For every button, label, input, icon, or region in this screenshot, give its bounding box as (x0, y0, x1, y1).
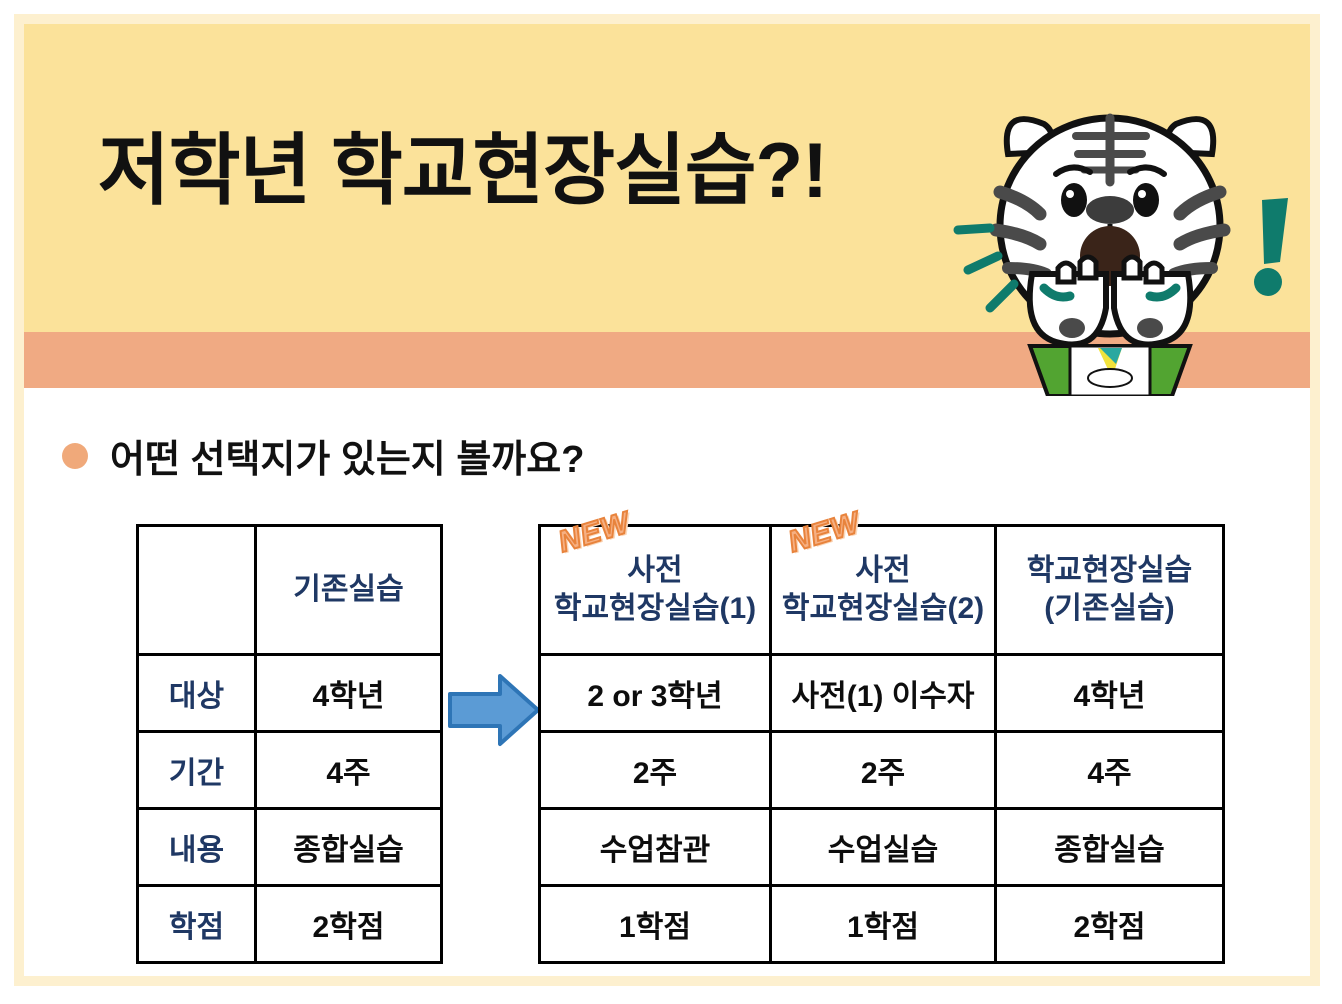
motion-lines-icon (952, 212, 1042, 327)
bullet-dot-icon (62, 443, 88, 469)
header-line2: (기존실습) (997, 590, 1222, 628)
table-row: 2 or 3학년 사전(1) 이수자 4학년 (540, 655, 1224, 732)
header-line1: 학교현장실습 (997, 552, 1222, 590)
table-row: 기간 4주 (138, 732, 442, 809)
header-line2: 학교현장실습(2) (772, 590, 994, 628)
cell-duration-pre2: 2주 (771, 732, 996, 809)
table-row: 대상 4학년 (138, 655, 442, 732)
header-line2: 학교현장실습(1) (541, 590, 769, 628)
exclamation-mark-icon (1248, 196, 1308, 296)
cell-target-existing: 4학년 (996, 655, 1224, 732)
cell-credits-pre1: 1학점 (540, 886, 771, 963)
cell-content-pre1: 수업참관 (540, 809, 771, 886)
cell-duration-existing: 4주 (256, 732, 442, 809)
table-row: 내용 종합실습 (138, 809, 442, 886)
table-header-row: 기존실습 (138, 526, 442, 655)
table-row: 학점 2학점 (138, 886, 442, 963)
header-school-practicum-existing: 학교현장실습 (기존실습) (996, 526, 1224, 655)
slide-root: 저학년 학교현장실습?! (0, 0, 1342, 1004)
row-label-content: 내용 (138, 809, 256, 886)
cell-credits-existing: 2학점 (996, 886, 1224, 963)
existing-practicum-table: 기존실습 대상 4학년 기간 4주 내용 종합실습 학점 2학점 (136, 524, 443, 964)
table-row: 2주 2주 4주 (540, 732, 1224, 809)
cell-content-existing: 종합실습 (996, 809, 1224, 886)
header-pre-practicum-2: 사전 학교현장실습(2) (771, 526, 996, 655)
cell-target-existing: 4학년 (256, 655, 442, 732)
page-title: 저학년 학교현장실습?! (98, 128, 827, 214)
header-pre-practicum-1: 사전 학교현장실습(1) (540, 526, 771, 655)
row-label-duration: 기간 (138, 732, 256, 809)
right-arrow-icon (446, 662, 542, 758)
cell-credits-pre2: 1학점 (771, 886, 996, 963)
new-practicum-table: 사전 학교현장실습(1) 사전 학교현장실습(2) 학교현장실습 (기존실습) … (538, 524, 1225, 964)
cell-content-existing: 종합실습 (256, 809, 442, 886)
cell-content-pre2: 수업실습 (771, 809, 996, 886)
row-label-target: 대상 (138, 655, 256, 732)
cell-duration-existing: 4주 (996, 732, 1224, 809)
header-line1: 사전 (772, 552, 994, 590)
cell-credits-existing: 2학점 (256, 886, 442, 963)
header-line1: 사전 (541, 552, 769, 590)
table-row: 1학점 1학점 2학점 (540, 886, 1224, 963)
bullet-row: 어떤 선택지가 있는지 볼까요? (62, 428, 584, 483)
cell-duration-pre1: 2주 (540, 732, 771, 809)
table-row: 수업참관 수업실습 종합실습 (540, 809, 1224, 886)
table-header-row: 사전 학교현장실습(1) 사전 학교현장실습(2) 학교현장실습 (기존실습) (540, 526, 1224, 655)
bullet-text: 어떤 선택지가 있는지 볼까요? (110, 428, 584, 483)
corner-cell (138, 526, 256, 655)
header-existing: 기존실습 (256, 526, 442, 655)
cell-target-pre2: 사전(1) 이수자 (771, 655, 996, 732)
row-label-credits: 학점 (138, 886, 256, 963)
cell-target-pre1: 2 or 3학년 (540, 655, 771, 732)
